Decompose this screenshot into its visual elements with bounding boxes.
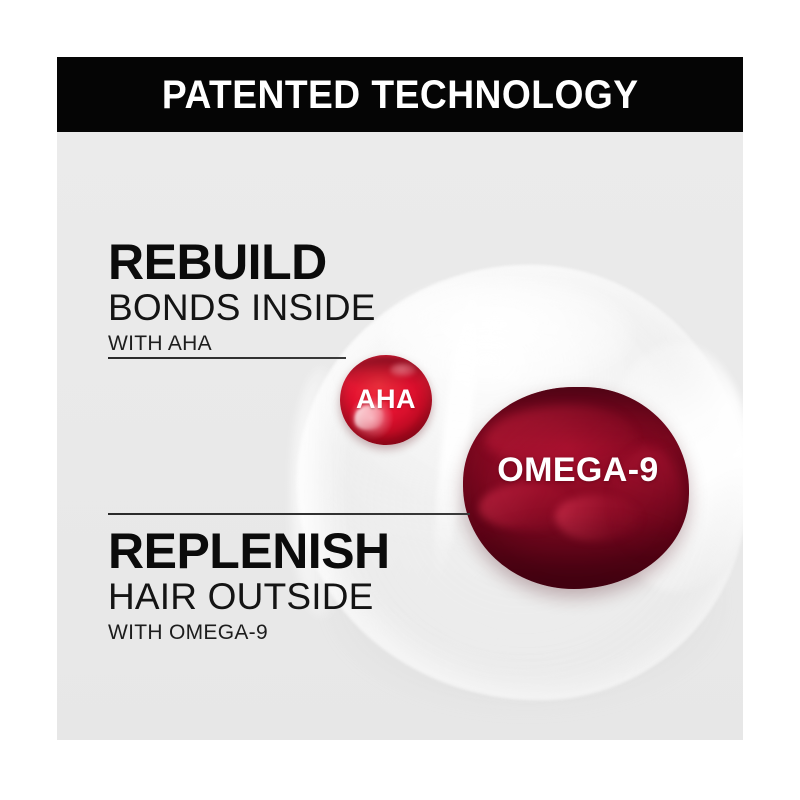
replenish-detail: WITH OMEGA-9	[108, 621, 390, 644]
aha-secondary-highlight	[390, 363, 416, 377]
replenish-headline: REPLENISH	[108, 527, 390, 575]
content-area: AHA OMEGA-9 REBUILD BONDS INSIDE WITH AH…	[57, 132, 743, 740]
omega9-label: OMEGA-9	[497, 453, 658, 487]
omega9-bottom-shading	[473, 515, 683, 589]
aha-sphere-icon: AHA	[340, 355, 432, 445]
replenish-subhead: HAIR OUTSIDE	[108, 577, 390, 617]
rebuild-detail: WITH AHA	[108, 332, 376, 355]
connector-line-omega9	[108, 513, 470, 515]
poster-canvas: PATENTED TECHNOLOGY AHA	[0, 0, 800, 800]
rebuild-headline: REBUILD	[108, 238, 376, 286]
rebuild-text-block: REBUILD BONDS INSIDE WITH AHA	[108, 238, 376, 355]
rebuild-subhead: BONDS INSIDE	[108, 288, 376, 328]
replenish-text-block: REPLENISH HAIR OUTSIDE WITH OMEGA-9	[108, 527, 390, 644]
aha-label: AHA	[356, 386, 416, 413]
omega9-blob-icon: OMEGA-9	[463, 387, 689, 589]
page-title: PATENTED TECHNOLOGY	[162, 75, 639, 115]
patented-technology-panel: PATENTED TECHNOLOGY AHA	[57, 57, 743, 740]
connector-line-aha	[108, 357, 346, 359]
header-banner: PATENTED TECHNOLOGY	[57, 57, 743, 132]
